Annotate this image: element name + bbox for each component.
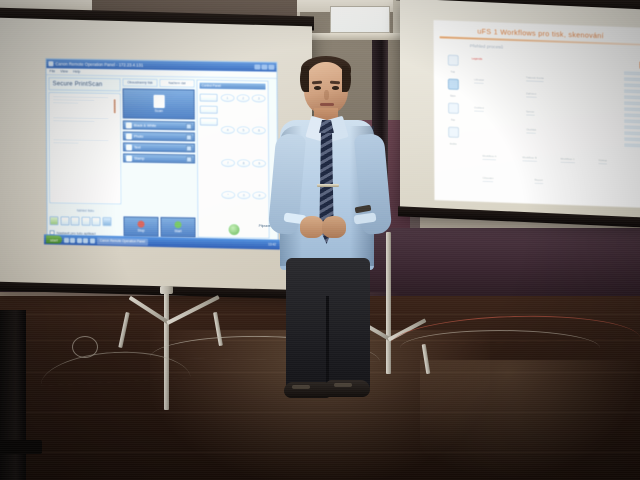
folder-icon[interactable] (83, 238, 88, 243)
preview-caption: Náhled tisku (49, 208, 121, 213)
key-1[interactable]: 1 (221, 94, 235, 102)
scan-button-label: Scan (155, 109, 163, 113)
slide-side-list (624, 71, 640, 197)
menu-key-icon[interactable] (200, 94, 218, 102)
menu-item-file[interactable]: File (49, 69, 55, 73)
diagram-node: Workflow A (482, 154, 496, 161)
diagram-node: Workflow C (560, 157, 575, 164)
leg-separation (326, 296, 329, 388)
diagram-node: Uživatel (474, 78, 484, 84)
hair-left (300, 66, 309, 92)
mode-options-icon[interactable] (186, 134, 192, 140)
diagram-node: Report (534, 178, 543, 184)
function-key-column[interactable] (200, 91, 219, 221)
slide-subtitle: Přehled procesů (470, 43, 640, 54)
presenter (262, 56, 402, 406)
tab-load-data[interactable]: Načtení dat (160, 79, 195, 88)
menu-item-view[interactable]: View (60, 69, 68, 73)
hand-right (322, 216, 346, 238)
key-5[interactable]: 5 (236, 126, 250, 134)
diagram-node: Workflow B (522, 155, 537, 162)
eye-left (314, 86, 321, 90)
power-key-icon[interactable] (200, 118, 218, 126)
app-header-title: Secure PrintScan (49, 77, 121, 91)
slide-body: Tisk Sken Fax Archiv Přehled procesů Leg… (440, 42, 640, 199)
numeric-keypad[interactable]: 1 2 3 4 5 6 7 8 9 * 0 # (221, 91, 267, 222)
preview-marker-icon (114, 99, 116, 113)
tie-clip (317, 184, 339, 187)
sidebar-scan-icon (447, 79, 458, 90)
app-body: Secure PrintScan Náhled tisku (46, 75, 277, 241)
mode-button-black-white[interactable]: Black & White (123, 120, 195, 130)
diagram-node: Ověření (474, 106, 484, 112)
photo-scene: Canon Remote Operation Panel - 172.23.4.… (0, 0, 640, 480)
key-4[interactable]: 4 (221, 126, 235, 134)
photo-icon (126, 133, 132, 139)
sidebar-label: Tisk (450, 71, 455, 74)
mode-button-text[interactable]: Text (123, 142, 195, 152)
dark-stand-foot (0, 440, 42, 454)
sidebar-print-icon (447, 55, 458, 66)
eye-right (332, 86, 339, 90)
mode-button-stamp[interactable]: Stamp (123, 153, 195, 163)
diagram-node: Účtování (482, 176, 493, 182)
preview-pane: Secure PrintScan Náhled tisku (49, 77, 122, 236)
diagram-node: Server (526, 109, 535, 115)
reset-key-icon[interactable] (200, 106, 218, 114)
text-icon (126, 144, 132, 150)
key-2[interactable]: 2 (236, 94, 250, 102)
key-star[interactable]: * (221, 191, 235, 199)
quick-launch-icons[interactable] (64, 237, 95, 243)
browser-icon[interactable] (64, 237, 69, 242)
document-preview[interactable] (49, 92, 122, 204)
dark-stand-post (0, 310, 26, 480)
floor-light-reflection-right (420, 360, 640, 480)
nose (324, 90, 329, 100)
media-icon[interactable] (77, 238, 82, 243)
cable-loop (72, 336, 98, 358)
diagram-node: Tisková fronta (526, 75, 544, 82)
sidebar-label: Archiv (450, 143, 457, 146)
key-7[interactable]: 7 (221, 158, 235, 166)
shoe-highlight-left (292, 385, 310, 389)
key-0[interactable]: 0 (237, 191, 251, 199)
mode-label: Black & White (134, 123, 184, 128)
sidebar-label: Fax (451, 119, 455, 122)
projected-slide: uFS 1 Workflows pro tisk, skenování Tisk… (434, 20, 640, 208)
app-status-text: Připraveno (46, 224, 278, 230)
taskbar-task-item[interactable]: Canon Remote Operation Panel (97, 237, 148, 245)
menu-item-help[interactable]: Help (73, 70, 80, 74)
app-icon (48, 61, 53, 66)
mode-label: Text (134, 145, 184, 150)
slide-sidebar: Tisk Sken Fax Archiv (440, 42, 467, 193)
diagram-node: Výstup (598, 158, 607, 164)
tab-duplex[interactable]: Oboustranný tisk (123, 78, 158, 87)
control-panel-pane: Control Panel 1 2 3 4 5 (197, 80, 270, 239)
shoe-highlight-right (334, 383, 352, 387)
diagram-node: Zařízení (526, 91, 537, 97)
sidebar-archive-icon (448, 127, 459, 138)
mode-label: Photo (134, 134, 184, 139)
slide-legend-label: Legenda (472, 57, 482, 60)
slide-diagram: Přehled procesů Legenda Uživatel Ověření… (470, 43, 640, 199)
mouth (320, 103, 334, 106)
keypad-wrapper: 1 2 3 4 5 6 7 8 9 * 0 # (200, 91, 267, 222)
sidebar-fax-icon (447, 103, 458, 114)
sidebar-label: Sken (450, 95, 456, 98)
mode-options-icon[interactable] (186, 123, 192, 129)
mode-label: Stamp (134, 156, 184, 161)
diagram-node: Úložiště (526, 127, 536, 133)
start-button[interactable]: start (46, 235, 62, 243)
hand-left (300, 216, 324, 238)
window-left (330, 6, 390, 33)
mail-icon[interactable] (70, 237, 75, 242)
hair-right (342, 66, 351, 92)
control-panel-title: Control Panel (200, 83, 266, 90)
key-8[interactable]: 8 (237, 159, 251, 167)
page-icon (153, 95, 164, 108)
action-pane: Oboustranný tisk Načtení dat Scan Black … (123, 78, 196, 237)
mode-options-icon[interactable] (186, 156, 192, 162)
mode-options-icon[interactable] (186, 145, 192, 151)
minimize-icon[interactable] (254, 64, 260, 69)
mode-button-photo[interactable]: Photo (123, 131, 195, 141)
stamp-icon (126, 155, 132, 161)
projected-application: Canon Remote Operation Panel - 172.23.4.… (45, 58, 278, 242)
app-window: Canon Remote Operation Panel - 172.23.4.… (45, 58, 278, 242)
scan-button[interactable]: Scan (123, 88, 195, 119)
black-white-icon (126, 122, 132, 128)
desktop-icon[interactable] (90, 238, 95, 243)
